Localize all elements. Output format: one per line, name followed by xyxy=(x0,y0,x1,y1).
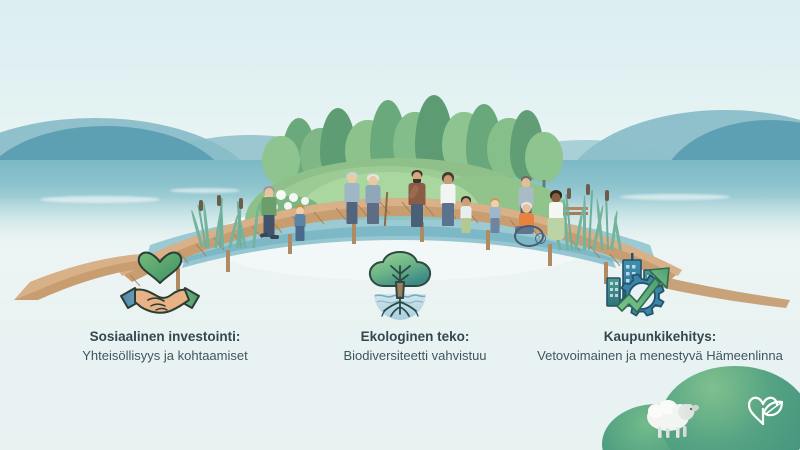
caption-social: Sosiaalinen investointi: Yhteisöllisyys … xyxy=(20,328,310,365)
person-child-2 xyxy=(458,196,474,236)
heart-leaf-logo[interactable] xyxy=(746,393,786,432)
caption-ecological: Ekologinen teko: Biodiversiteetti vahvis… xyxy=(290,328,540,365)
caption-urban: Kaupunkikehitys: Vetovoimainen ja menest… xyxy=(520,328,800,365)
tree-icon xyxy=(370,252,430,298)
caption-urban-title: Kaupunkikehitys: xyxy=(520,328,800,346)
caption-ecological-title: Ekologinen teko: xyxy=(290,328,540,346)
caption-social-title: Sosiaalinen investointi: xyxy=(20,328,310,346)
person-toddler xyxy=(487,198,503,236)
person-caregiver xyxy=(545,190,567,246)
reeds-right xyxy=(555,190,645,250)
person-child xyxy=(292,205,308,243)
person-wheelchair-user xyxy=(512,202,546,244)
person-adult-walking xyxy=(258,186,280,242)
sheep-illustration xyxy=(642,395,704,444)
handshake-icon xyxy=(121,288,199,313)
icon-social-investment[interactable] xyxy=(115,248,205,324)
caption-urban-subtitle: Vetovoimainen ja menestyvä Hämeenlinna xyxy=(520,347,800,365)
slide-canvas: Sosiaalinen investointi: Yhteisöllisyys … xyxy=(0,0,800,450)
person-elder-2 xyxy=(363,174,383,228)
person-adult-gesturing xyxy=(405,170,429,230)
icon-row xyxy=(0,248,800,328)
heart-icon xyxy=(139,253,181,283)
person-elder-1 xyxy=(342,172,362,228)
caption-ecological-subtitle: Biodiversiteetti vahvistuu xyxy=(290,347,540,365)
caption-social-subtitle: Yhteisöllisyys ja kohtaamiset xyxy=(20,347,310,365)
icon-ecological-act[interactable] xyxy=(355,248,445,324)
person-adult-woman xyxy=(437,172,459,230)
icon-urban-development[interactable] xyxy=(597,248,687,324)
